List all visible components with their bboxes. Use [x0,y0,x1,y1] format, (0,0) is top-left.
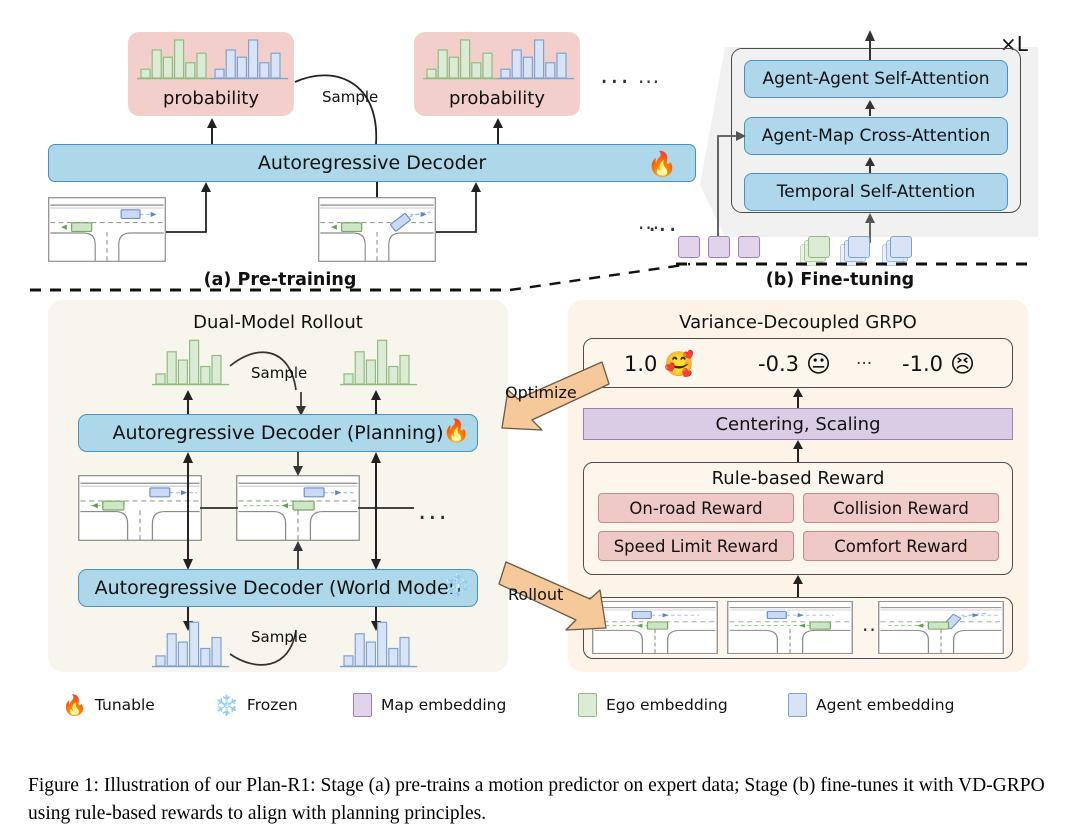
reward-value-1: 1.0 [624,352,657,376]
arrow-map-tokens-to-crossattn [714,130,750,240]
arrow-planning-to-hist-1 [181,390,195,414]
reward-values-row: 1.0 🥰 -0.3 😐 ··· -1.0 😣 [583,338,1013,388]
autoregressive-decoder-label: Autoregressive Decoder [258,152,486,174]
legend-label-frozen: Frozen [247,696,298,714]
legend-label-map-embedding: Map embedding [381,696,506,714]
planning-decoder-bar[interactable]: Autoregressive Decoder (Planning) 🔥 [78,414,478,452]
reward-speed-limit[interactable]: Speed Limit Reward [598,531,794,561]
optimize-label: Optimize [505,383,577,402]
legend-item-frozen: ❄️ Frozen [214,690,298,720]
arrow-scene2-to-world [291,541,305,569]
vd-grpo-title: Variance-Decoupled GRPO [568,312,1028,333]
legend-label-agent-embedding: Agent embedding [816,696,954,714]
reward-item-1: 1.0 🥰 [624,339,694,389]
ego-embedding-swatch [578,693,597,717]
rule-based-reward-title: Rule-based Reward [583,468,1013,489]
smiling-face-with-hearts-icon: 🥰 [664,352,694,376]
attention-block-agent-agent[interactable]: Agent-Agent Self-Attention [744,60,1008,98]
attention-block-temporal[interactable]: Temporal Self-Attention [744,173,1008,211]
rollout-label: Rollout [508,585,563,604]
reward-collision[interactable]: Collision Reward [803,493,999,523]
planning-histogram-1 [152,338,226,390]
planning-histogram-2 [340,338,414,390]
world-model-decoder-bar[interactable]: Autoregressive Decoder (World Model) ❄️ [78,569,478,607]
agent-token-stack-2-front [890,236,912,258]
flame-icon: 🔥 [62,695,87,715]
arrow-planning-to-hist-2 [369,390,383,414]
probability-box-2: probability [414,32,580,116]
reward-on-road[interactable]: On-road Reward [598,493,794,523]
reward-item-2: -0.3 😐 [758,339,831,389]
legend-item-map-embedding: Map embedding [353,690,506,720]
sample-label-world: Sample [251,628,307,646]
sample-label-planning: Sample [251,364,307,382]
agent-histogram [211,40,288,79]
centering-scaling-bar: Centering, Scaling [583,408,1013,440]
reward-values-ellipsis: ··· [856,339,872,389]
world-histogram-1 [152,620,226,672]
stage-a-ellipsis: ... [600,62,631,88]
reward-speed-limit-label: Speed Limit Reward [614,537,779,556]
stage-b-ellipsis-bottom: ... [638,212,660,232]
reward-value-3: -1.0 [902,352,943,376]
legend: 🔥 Tunable ❄️ Frozen Map embedding Ego em… [48,690,1032,720]
arrow-decoder-to-prob-2 [491,118,505,146]
reward-on-road-label: On-road Reward [629,499,762,518]
ego-histogram [423,40,500,79]
arrow-centering-to-rewards [791,388,805,410]
legend-item-agent-embedding: Agent embedding [788,690,954,720]
arrow-temporal-to-agentmap [863,157,877,173]
figure-root: probability probability ... Sample Autor… [0,0,1080,840]
stage-divider [30,258,1060,294]
probability-histogram-2 [423,38,573,88]
sample-label-a: Sample [322,88,378,106]
probability-label-2: probability [414,88,580,109]
snowflake-icon: ❄️ [444,576,471,598]
legend-item-tunable: 🔥 Tunable [62,690,155,720]
arrow-agentmap-to-agentagent [863,100,877,116]
attention-block-agent-agent-label: Agent-Agent Self-Attention [762,69,989,89]
reward-value-2: -0.3 [758,352,799,376]
ego-token-stack-front [808,236,830,258]
arrow-bidir-2 [369,452,383,570]
neutral-face-icon: 😐 [806,352,831,376]
flame-icon: 🔥 [443,421,470,443]
scene-chain-connector [200,505,422,511]
world-model-decoder-label: Autoregressive Decoder (World Model) [95,577,462,599]
reward-item-3: -1.0 😣 [902,339,975,389]
reward-collision-label: Collision Reward [833,499,969,518]
world-histogram-2 [340,620,414,672]
figure-caption: Figure 1: Illustration of our Plan-R1: S… [28,772,1054,829]
legend-item-ego-embedding: Ego embedding [578,690,728,720]
scene-panel-grpo-1 [592,601,718,654]
attention-block-agent-map-label: Agent-Map Cross-Attention [762,126,991,146]
map-embedding-swatch [353,693,372,717]
scene-panel-a-2 [318,197,436,262]
scene-panel-grpo-2 [727,601,853,654]
probability-label-1: probability [128,88,294,109]
arrow-bidir-1 [181,452,195,570]
persevering-face-icon: 😣 [950,352,975,376]
arrow-rollout-to-rulebased [791,575,805,597]
legend-label-ego-embedding: Ego embedding [606,696,728,714]
reward-comfort-label: Comfort Reward [834,537,968,556]
arrow-planning-sample-down [294,392,308,416]
scene-panel-a-1 [48,197,166,262]
attention-block-agent-map[interactable]: Agent-Map Cross-Attention [744,117,1008,155]
ego-histogram [137,40,214,79]
rollout-scene-ellipsis: ... [418,498,449,524]
connector-scene1-to-decoder [166,182,226,242]
connector-scene2-to-decoder [436,182,496,242]
agent-token-stack-1-front [848,236,870,258]
stage-b-ellipsis-top: ... [638,66,660,86]
map-token-1 [678,236,700,258]
snowflake-icon: ❄️ [214,695,239,715]
probability-box-1: probability [128,32,294,116]
attention-block-temporal-label: Temporal Self-Attention [777,182,976,202]
arrow-decoder-to-prob-1 [205,118,219,146]
dual-model-rollout-title: Dual-Model Rollout [48,312,508,333]
arrow-planning-to-scene2 [291,452,305,476]
agent-embedding-swatch [788,693,807,717]
arrow-rulebased-to-centering [791,440,805,462]
reward-comfort[interactable]: Comfort Reward [803,531,999,561]
scene-panel-grpo-3 [878,601,1004,654]
autoregressive-decoder-bar[interactable]: Autoregressive Decoder 🔥 [48,144,696,182]
agent-histogram [497,40,574,79]
planning-decoder-label: Autoregressive Decoder (Planning) [112,422,443,444]
probability-histogram-1 [137,38,287,88]
map-token-3 [738,236,760,258]
centering-scaling-label: Centering, Scaling [715,414,880,435]
map-token-2 [708,236,730,258]
legend-label-tunable: Tunable [95,696,155,714]
